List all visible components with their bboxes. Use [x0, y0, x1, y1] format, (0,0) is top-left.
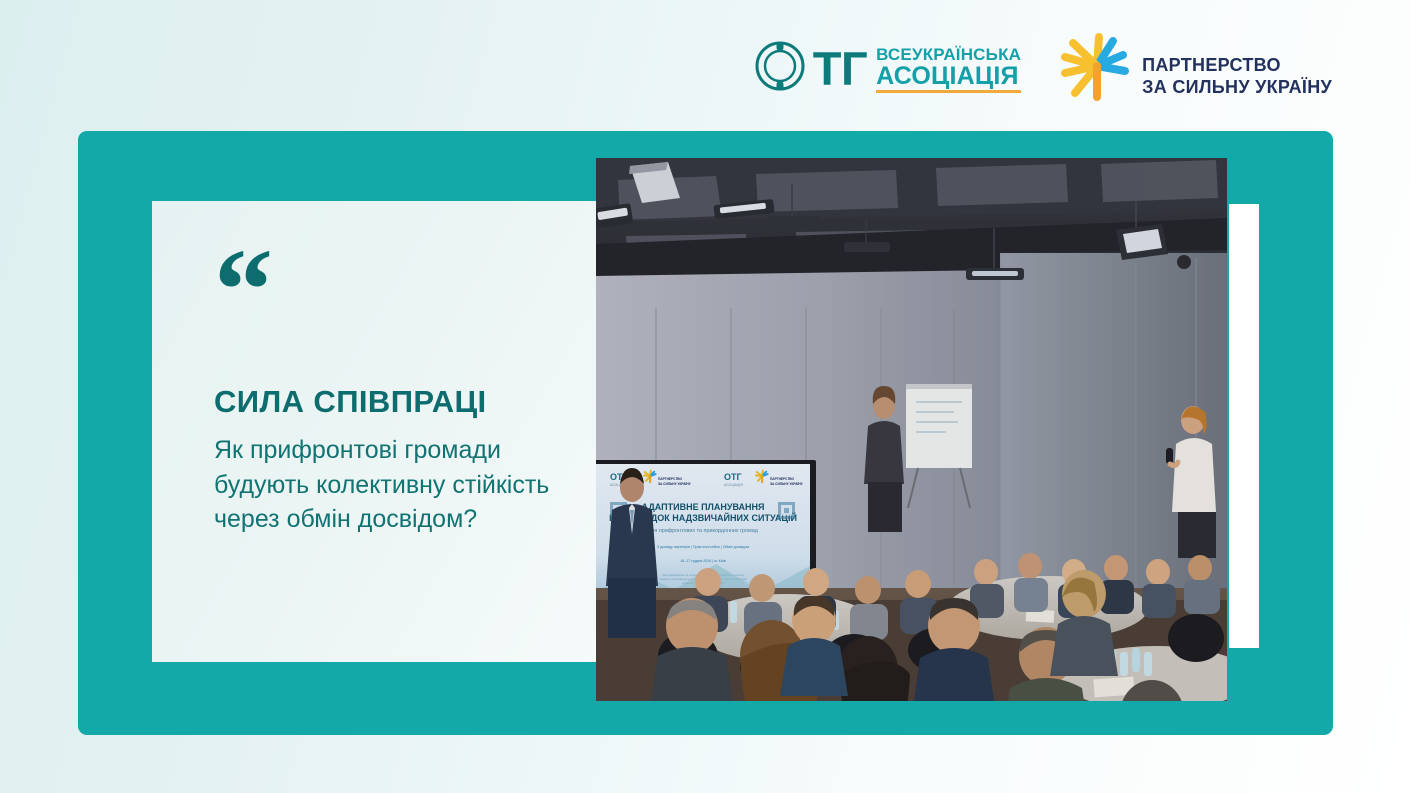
quote-mark-icon: “ — [214, 253, 574, 319]
quote-heading: СИЛА СПІВПРАЦІ — [214, 385, 574, 419]
starburst-icon — [1055, 27, 1133, 110]
otg-mark-text: ТГ — [813, 47, 867, 90]
logo-bar: ТГ ВСЕУКРАЇНСЬКА АСОЦІАЦІЯ — [754, 27, 1332, 110]
conference-photo: ОТГ АСОЦІАЦІЯ ПАРТНЕРСТВО ЗА СИЛЬНУ УКРА… — [596, 158, 1227, 701]
partnership-strong-ukraine-logo: ПАРТНЕРСТВО ЗА СИЛЬНУ УКРАЇНУ — [1055, 27, 1332, 110]
psu-wordmark-line2: ЗА СИЛЬНУ УКРАЇНУ — [1142, 77, 1332, 98]
quote-body-text: Як прифронтові громади будують колективн… — [214, 433, 554, 537]
otg-circle-mark-icon — [754, 40, 806, 97]
otg-wordmark: ВСЕУКРАЇНСЬКА АСОЦІАЦІЯ — [876, 46, 1021, 93]
white-accent-strip — [1229, 204, 1259, 648]
otg-association-logo: ТГ ВСЕУКРАЇНСЬКА АСОЦІАЦІЯ — [754, 40, 1021, 97]
otg-wordmark-line1: ВСЕУКРАЇНСЬКА — [876, 46, 1021, 63]
psu-wordmark: ПАРТНЕРСТВО ЗА СИЛЬНУ УКРАЇНУ — [1142, 55, 1332, 97]
quote-content: “ СИЛА СПІВПРАЦІ Як прифронтові громади … — [214, 253, 574, 537]
slide-canvas: ТГ ВСЕУКРАЇНСЬКА АСОЦІАЦІЯ — [0, 0, 1410, 793]
otg-wordmark-line2: АСОЦІАЦІЯ — [876, 64, 1021, 93]
quote-card: “ СИЛА СПІВПРАЦІ Як прифронтові громади … — [152, 201, 669, 662]
psu-wordmark-line1: ПАРТНЕРСТВО — [1142, 55, 1332, 76]
